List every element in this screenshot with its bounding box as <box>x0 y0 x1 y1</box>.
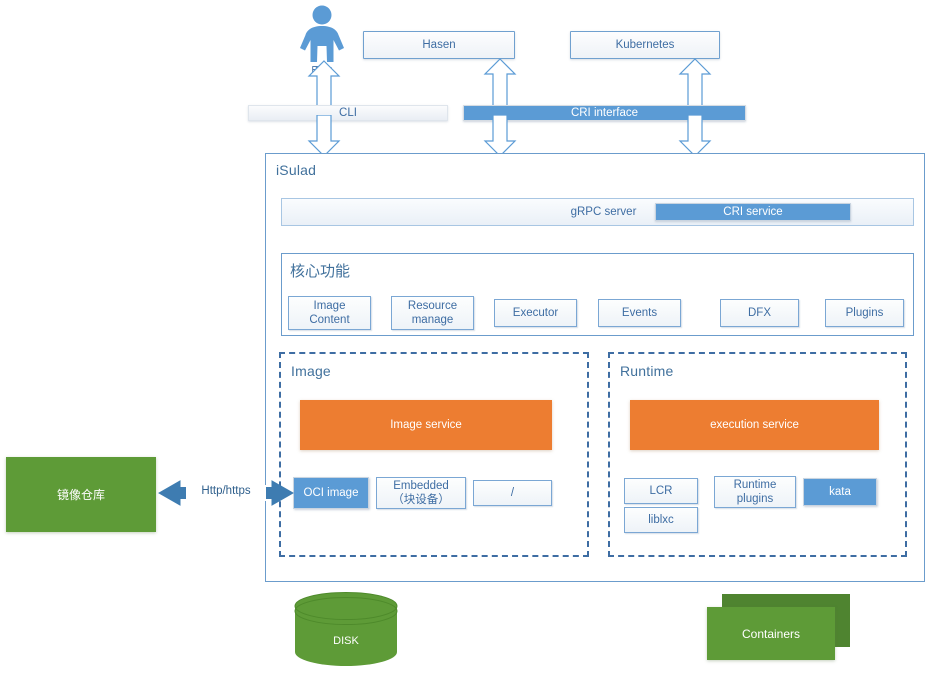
core-chip-events[interactable]: Events <box>598 299 681 327</box>
image-section-title: Image <box>291 363 451 383</box>
cli-interface-bar[interactable]: CLI <box>248 105 448 121</box>
arrow-cri-to-isulad-right <box>678 115 712 157</box>
runtime-backend-runtime-plugins[interactable]: Runtime plugins <box>714 476 796 508</box>
disk-cylinder <box>293 592 399 668</box>
user-person-icon <box>296 4 348 64</box>
core-chip-executor[interactable]: Executor <box>494 299 577 327</box>
core-chip-plugins[interactable]: Plugins <box>825 299 904 327</box>
runtime-backend-liblxc[interactable]: liblxc <box>624 507 698 533</box>
image-service-block[interactable]: Image service <box>300 400 552 450</box>
image-backend-oci-image[interactable]: OCI image <box>293 477 369 509</box>
diagram-canvas: 用户 Hasen Kubernetes CLI CRI interface <box>0 0 939 673</box>
arrow-cli-to-isulad <box>307 115 341 157</box>
disk-label: DISK <box>293 633 399 649</box>
core-chip-image-content[interactable]: Image Content <box>288 296 371 330</box>
core-chip-dfx[interactable]: DFX <box>720 299 799 327</box>
client-box-hasen[interactable]: Hasen <box>363 31 515 59</box>
execution-service-block[interactable]: execution service <box>630 400 879 450</box>
isulad-panel-title: iSulad <box>276 162 476 182</box>
arrow-hasen-to-cri <box>483 58 517 112</box>
containers-front-box[interactable]: Containers <box>707 607 835 660</box>
runtime-backend-lcr[interactable]: LCR <box>624 478 698 504</box>
cri-service-chip[interactable]: CRI service <box>655 203 851 221</box>
arrow-kubernetes-to-cri <box>678 58 712 112</box>
image-backend-root[interactable]: / <box>473 480 552 506</box>
runtime-backend-kata[interactable]: kata <box>803 478 877 506</box>
runtime-section-title: Runtime <box>620 363 780 383</box>
core-functions-title: 核心功能 <box>290 260 470 280</box>
image-backend-embedded[interactable]: Embedded （块设备） <box>376 477 466 509</box>
core-chip-resource-manage[interactable]: Resource manage <box>391 296 474 330</box>
http-https-label: Http/https <box>186 485 266 501</box>
client-box-kubernetes[interactable]: Kubernetes <box>570 31 720 59</box>
image-registry-box[interactable]: 镜像仓库 <box>6 457 156 532</box>
grpc-server-label: gRPC server <box>556 206 651 222</box>
arrow-cri-to-isulad-left <box>483 115 517 157</box>
